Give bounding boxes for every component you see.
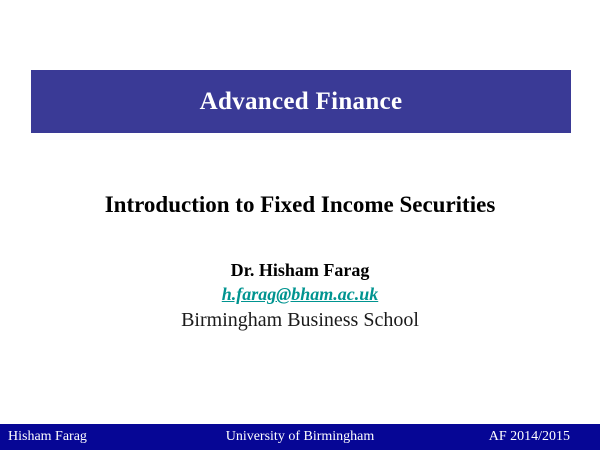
author-block: Dr. Hisham Farag h.farag@bham.ac.uk Birm… [0, 258, 600, 333]
author-affiliation: Birmingham Business School [0, 307, 600, 333]
footer-course-code: AF 2014/2015 [489, 424, 570, 450]
author-name: Dr. Hisham Farag [0, 258, 600, 282]
author-email-link[interactable]: h.farag@bham.ac.uk [0, 282, 600, 306]
presentation-slide: Advanced Finance Introduction to Fixed I… [0, 0, 600, 450]
slide-title: Advanced Finance [200, 89, 403, 114]
slide-title-banner: Advanced Finance [31, 70, 571, 133]
slide-footer: Hisham Farag University of Birmingham AF… [0, 424, 600, 450]
slide-subtitle: Introduction to Fixed Income Securities [0, 192, 600, 217]
